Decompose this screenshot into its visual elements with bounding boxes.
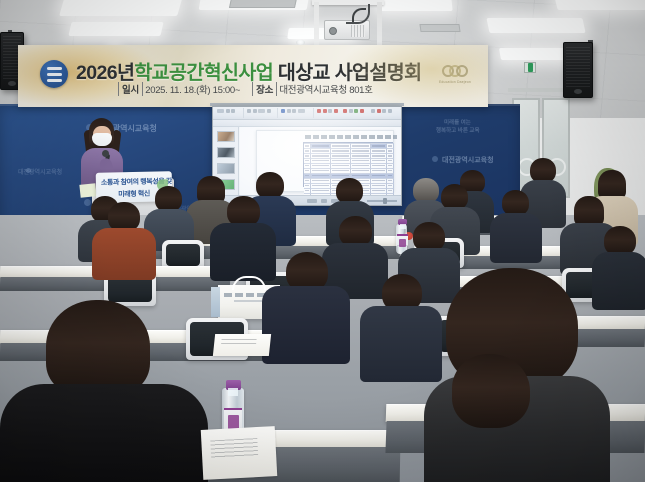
- audience-member: [452, 354, 572, 482]
- banner-title: 2026년학교공간혁신사업 대상교 사업설명회: [76, 56, 461, 85]
- exit-sign: [524, 62, 536, 73]
- ceiling-vent: [419, 24, 460, 32]
- ceiling-panel-light: [59, 0, 183, 16]
- pa-speaker-right: [563, 42, 593, 98]
- banner-title-year: 2026년: [76, 62, 134, 84]
- ceiling-panel-light: [554, 0, 645, 10]
- audience-member: [92, 202, 156, 278]
- event-banner: 2026년학교공간혁신사업 대상교 사업설명회 일시 2025. 11. 18.…: [18, 45, 488, 107]
- banner-subtitle: 일시 2025. 11. 18.(화) 15:00~ 장소 대전광역시교육청 8…: [118, 82, 448, 96]
- audience-member: [0, 300, 208, 482]
- backdrop-watermark: 대전광역시교육청: [18, 167, 62, 176]
- slide-thumbnail[interactable]: [217, 147, 235, 158]
- projector-lens-icon: [329, 27, 337, 35]
- slide-thumbnail[interactable]: [217, 163, 235, 174]
- audience-member: [262, 252, 350, 362]
- banner-title-accent: 학교공간혁신사업: [134, 62, 273, 84]
- app-secondary-toolbar[interactable]: [213, 120, 402, 127]
- face-mask-icon: [92, 133, 112, 146]
- handout-document[interactable]: [213, 334, 271, 356]
- seminar-room-photo: 대전광역시교육청 대전광역시교육청 대전광역시교육청 대전광역시교육청 미래를 …: [0, 0, 645, 482]
- backdrop-tagline-1: 미래를 여는: [444, 118, 471, 126]
- slide-thumbnail[interactable]: [217, 131, 235, 142]
- app-ribbon-toolbar[interactable]: [213, 107, 402, 120]
- banner-place-value: 대전광역시교육청 801호: [279, 85, 372, 96]
- banner-date-label: 일시: [118, 82, 143, 96]
- projector-cable: [352, 8, 366, 22]
- office-emblem-icon: [40, 60, 68, 88]
- program-logo-icon: Education Daejeon: [438, 59, 472, 89]
- banner-date-value: 2025. 11. 18.(화) 15:00~: [145, 85, 240, 96]
- program-logo-text: Education Daejeon: [439, 80, 471, 84]
- ceiling-panel-light: [486, 18, 585, 33]
- audience-member: [490, 190, 542, 262]
- banner-place-label: 장소: [252, 82, 277, 96]
- zoom-slider-handle[interactable]: [383, 198, 387, 204]
- ceiling-vent: [229, 0, 297, 8]
- handout-document[interactable]: [201, 426, 278, 480]
- ceiling-panel-light: [68, 22, 163, 36]
- backdrop-tagline-2: 행복하고 바른 교육: [436, 126, 480, 134]
- ceiling-panel-light: [377, 0, 452, 11]
- backdrop-watermark: 대전광역시교육청: [442, 155, 494, 165]
- slide-title-text: [305, 135, 397, 139]
- banner-title-rest: 대상교 사업설명회: [273, 62, 421, 84]
